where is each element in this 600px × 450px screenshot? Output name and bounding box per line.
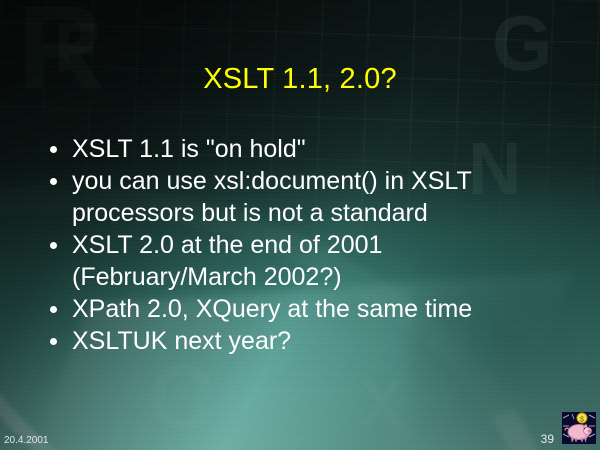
bullet-continuation-line: processors but is not a standard	[44, 197, 564, 229]
bullet-dot-icon	[50, 146, 57, 153]
bullet-text: you can use xsl:document() in XSLT	[72, 167, 472, 195]
presentation-slide: RFGNCX XSLT 1.1, 2.0? XSLT 1.1 is "on ho…	[0, 0, 600, 450]
bullet-item: XPath 2.0, XQuery at the same time	[44, 293, 564, 325]
bullet-dot-icon	[50, 306, 57, 313]
page-number: 39	[541, 432, 554, 446]
bullet-item: you can use xsl:document() in XSLT	[44, 165, 564, 197]
bullet-text: XSLT 1.1 is "on hold"	[72, 135, 306, 163]
bullet-text: processors but is not a standard	[72, 199, 428, 227]
bullet-text: XPath 2.0, XQuery at the same time	[72, 295, 472, 323]
bullet-dot-icon	[50, 178, 57, 185]
piggy-bank-logo: $	[560, 406, 598, 446]
bullet-dot-icon	[50, 242, 57, 249]
slide-title: XSLT 1.1, 2.0?	[0, 62, 600, 96]
bullet-text: XSLTUK next year?	[72, 327, 291, 355]
bullet-item: XSLT 1.1 is "on hold"	[44, 133, 564, 165]
bullet-text: XSLT 2.0 at the end of 2001	[72, 231, 382, 259]
bullet-continuation-line: (February/March 2002?)	[44, 261, 564, 293]
bullet-dot-icon	[50, 338, 57, 345]
bullet-text: (February/March 2002?)	[72, 263, 342, 291]
bullet-item: XSLT 2.0 at the end of 2001	[44, 229, 564, 261]
svg-text:$: $	[580, 417, 584, 424]
bullet-list: XSLT 1.1 is "on hold"you can use xsl:doc…	[44, 133, 564, 357]
bullet-item: XSLTUK next year?	[44, 325, 564, 357]
footer-date: 20.4.2001	[4, 435, 49, 447]
slide-content: XSLT 1.1, 2.0? XSLT 1.1 is "on hold"you …	[0, 0, 600, 450]
